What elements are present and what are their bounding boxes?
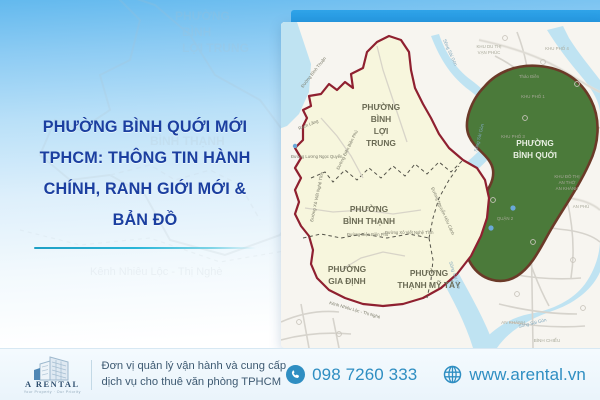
bg-label-7: AN THỚ <box>559 180 576 185</box>
poster-canvas: PHƯỜNG BÌNH LỢI TRUNG BÌNH THẠNH Kênh Nh… <box>0 0 600 400</box>
bg-label-9: QUẬN 2 <box>497 216 514 221</box>
poster-title: PHƯỜNG BÌNH QUỚI MỚI TPHCM: THÔNG TIN HÀ… <box>14 112 276 249</box>
title-line-4: BẢN ĐỒ <box>14 205 276 236</box>
ward-label-thanh-my-tay-2: THẠNH MỸ TÂY <box>397 279 461 290</box>
poi-marker <box>488 225 493 230</box>
ward-label-thanh-my-tay-1: PHƯỜNG <box>410 267 448 278</box>
bg-label-6: KHU ĐÔ THỊ <box>554 174 579 179</box>
ward-label-binh-loi-trung-3: LỢI <box>374 126 389 136</box>
bg-label-1: KHU DU THỊ <box>476 44 501 49</box>
footer-contact-group: 098 7260 333 www.arental.vn <box>286 365 586 385</box>
title-line-3: CHÍNH, RANH GIỚI MỚI & <box>14 174 276 205</box>
street-label-3: Đường Lương Ngọc Quyến <box>291 154 343 159</box>
ward-label-binh-thanh-1: PHƯỜNG <box>350 203 388 214</box>
title-line-2: TPHCM: THÔNG TIN HÀNH <box>14 143 276 174</box>
footer-slogan: Đơn vị quản lý vận hành và cung cấp dịch… <box>102 359 287 390</box>
ward-label-binh-loi-trung-2: BÌNH <box>371 113 391 124</box>
ward-label-binh-loi-trung-1: PHƯỜNG <box>362 101 400 112</box>
poi-marker <box>293 144 297 148</box>
title-underline-divider <box>34 247 256 249</box>
globe-icon <box>443 365 462 384</box>
ward-label-binh-quoi-2: BÌNH QUỚI <box>513 149 557 160</box>
svg-text:PHƯỜNG: PHƯỜNG <box>175 8 230 23</box>
map-card[interactable]: PHƯỜNG BÌNH LỢI TRUNG PHƯỜNG BÌNH THẠNH … <box>281 22 600 348</box>
brand-wordmark: A RENTAL <box>25 380 80 389</box>
svg-text:BÌNH: BÌNH <box>182 24 211 39</box>
phone-contact[interactable]: 098 7260 333 <box>286 365 417 385</box>
brand-logo[interactable]: A RENTAL Your Property · Our Priority <box>18 355 87 394</box>
bg-label-5: KHU PHỐ 3 <box>501 134 525 139</box>
phone-icon <box>286 365 305 384</box>
title-line-1: PHƯỜNG BÌNH QUỚI MỚI <box>14 112 276 143</box>
slogan-line-2: dịch vụ cho thuê văn phòng TPHCM <box>102 375 287 391</box>
slogan-line-1: Đơn vị quản lý vận hành và cung cấp <box>102 359 287 375</box>
bg-label-4: KHU PHỐ 1 <box>521 94 545 99</box>
bg-label-3: KHU PHỐ 4 <box>545 46 569 51</box>
bg-label-12: AN PHÚ <box>573 204 590 209</box>
brand-tagline: Your Property · Our Priority <box>24 390 81 394</box>
bg-label-11: BÌNH CHIỂU <box>534 337 561 343</box>
building-logo-icon <box>28 355 76 381</box>
street-label-9: Đường Xô Viết Nghệ Tĩnh <box>385 230 434 235</box>
street-label-8: Đường Điện Biên Phủ <box>347 232 389 237</box>
bg-label-8: AN KHÁNH <box>556 186 579 191</box>
ward-label-gia-dinh-1: PHƯỜNG <box>328 263 366 274</box>
ward-label-binh-thanh-2: BÌNH THẠNH <box>343 215 395 226</box>
website-url: www.arental.vn <box>469 365 586 385</box>
svg-text:Kênh Nhiêu Lộc - Thị Nghè: Kênh Nhiêu Lộc - Thị Nghè <box>90 266 223 278</box>
footer-divider <box>91 360 92 390</box>
administrative-map[interactable]: PHƯỜNG BÌNH LỢI TRUNG PHƯỜNG BÌNH THẠNH … <box>281 22 600 348</box>
poi-marker <box>510 205 515 210</box>
bg-label-2: VẠN PHÚC <box>478 50 501 55</box>
svg-text:LỢI TRUNG: LỢI TRUNG <box>182 41 249 55</box>
ward-label-gia-dinh-2: GIA ĐỊNH <box>328 276 365 286</box>
website-contact[interactable]: www.arental.vn <box>443 365 586 385</box>
phone-number: 098 7260 333 <box>312 365 417 385</box>
ward-label-binh-loi-trung-4: TRUNG <box>366 138 396 148</box>
bg-label-10: AN KHÁNH <box>501 319 525 325</box>
bg-label-13: Thảo Điền <box>519 74 540 79</box>
footer-bar: A RENTAL Your Property · Our Priority Đơ… <box>0 348 600 400</box>
